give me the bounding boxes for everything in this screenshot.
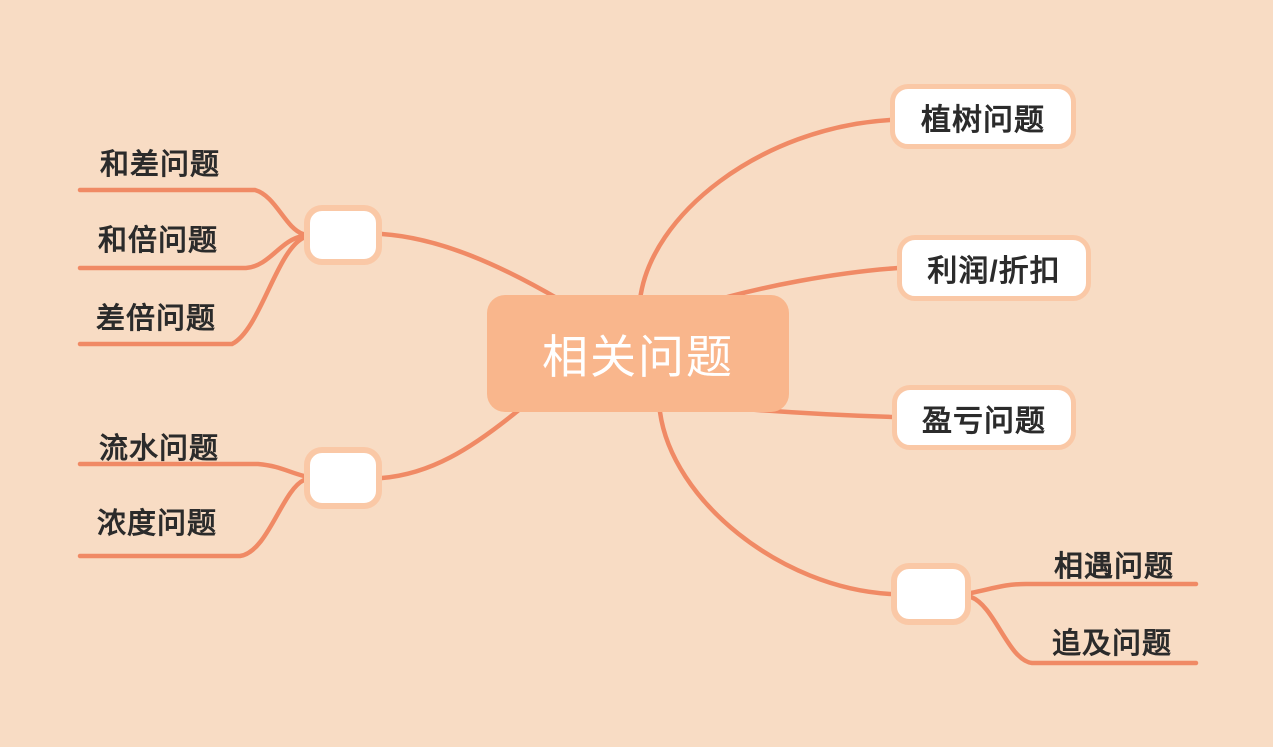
node-lirun-label: 利润/折扣 — [927, 246, 1060, 290]
branch-node-lower-right[interactable] — [891, 563, 971, 625]
leaf-liushui[interactable]: 流水问题 — [99, 425, 219, 467]
connector-center-to-zhishu — [640, 120, 890, 300]
node-lirun[interactable]: 利润/折扣 — [897, 235, 1091, 301]
node-zhishu[interactable]: 植树问题 — [890, 84, 1076, 149]
connector-center-to-branch-lower-left — [382, 409, 520, 478]
leaf-nongdu-label: 浓度问题 — [97, 508, 217, 540]
branch-node-lower-left[interactable] — [304, 447, 382, 509]
node-yingkui-label: 盈亏问题 — [922, 396, 1046, 440]
leaf-chabei[interactable]: 差倍问题 — [96, 295, 216, 337]
node-yingkui[interactable]: 盈亏问题 — [892, 385, 1076, 450]
connector-branch-lr-to-xiangyu — [971, 584, 1196, 593]
connector-center-to-branch-lower-right — [660, 412, 891, 594]
leaf-liushui-label: 流水问题 — [99, 433, 219, 465]
leaf-zhuiji-label: 追及问题 — [1052, 628, 1172, 660]
branch-node-upper-left[interactable] — [304, 205, 382, 265]
connector-center-to-branch-upper-left — [382, 234, 560, 300]
center-node-label: 相关问题 — [542, 321, 734, 387]
node-zhishu-label: 植树问题 — [921, 95, 1045, 139]
leaf-xiangyu[interactable]: 相遇问题 — [1054, 543, 1174, 585]
leaf-hecha[interactable]: 和差问题 — [100, 141, 220, 183]
leaf-hebei[interactable]: 和倍问题 — [98, 217, 218, 259]
mindmap-canvas: 相关问题 植树问题 利润/折扣 盈亏问题 和差问题 和倍问题 差倍问题 流水问题… — [0, 0, 1273, 747]
center-node[interactable]: 相关问题 — [487, 295, 789, 412]
leaf-xiangyu-label: 相遇问题 — [1054, 551, 1174, 583]
leaf-hecha-label: 和差问题 — [100, 149, 220, 181]
leaf-zhuiji[interactable]: 追及问题 — [1052, 620, 1172, 662]
leaf-nongdu[interactable]: 浓度问题 — [97, 500, 217, 542]
leaf-hebei-label: 和倍问题 — [98, 225, 218, 257]
leaf-chabei-label: 差倍问题 — [96, 303, 216, 335]
